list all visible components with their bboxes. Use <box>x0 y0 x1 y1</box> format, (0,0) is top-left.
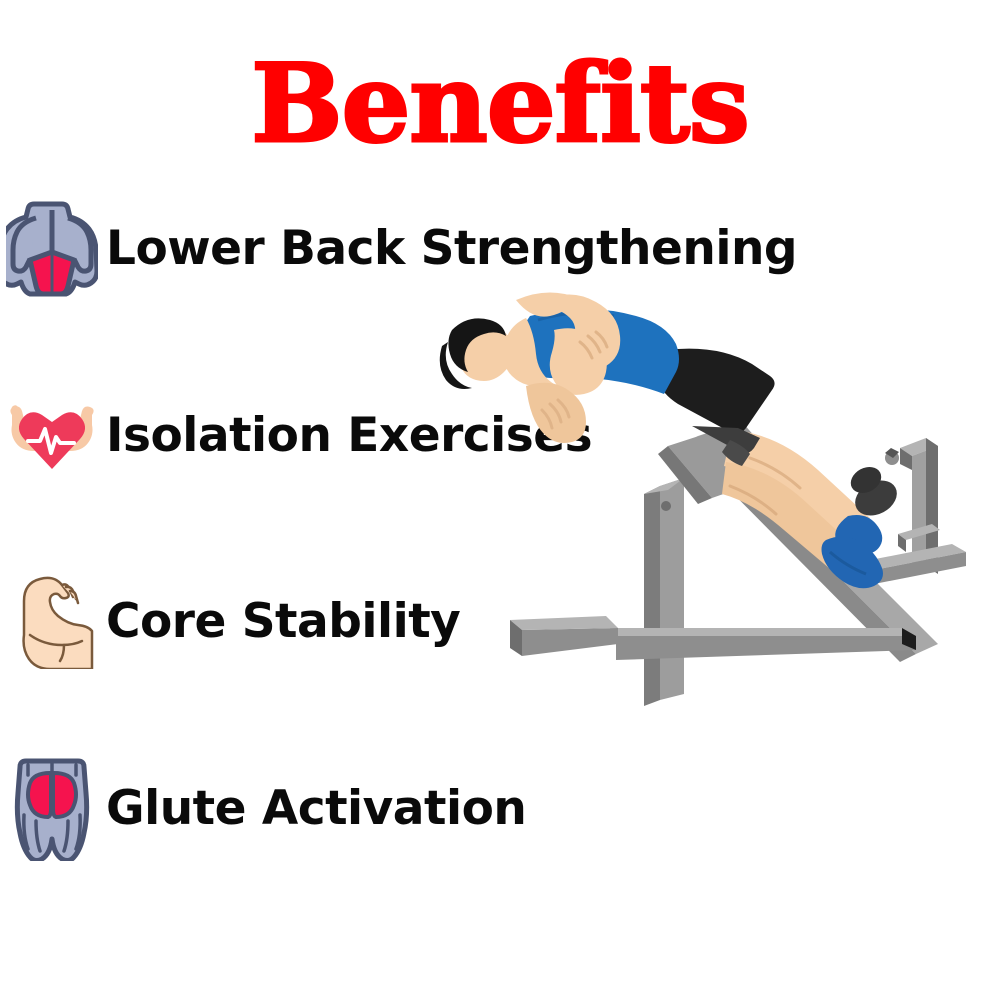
benefit-label-core: Core Stability <box>106 598 460 645</box>
benefit-label-glutes: Glute Activation <box>106 785 526 832</box>
glutes-icon <box>4 754 100 862</box>
flexed-bicep-icon <box>4 567 100 675</box>
bench-support-post <box>644 478 684 706</box>
glute-highlight <box>28 773 76 817</box>
benefit-item-lower-back: Lower Back Strengthening <box>4 192 784 304</box>
back-muscles-icon <box>4 194 100 302</box>
page-title: Benefits <box>0 48 1000 161</box>
head <box>440 318 513 389</box>
benefit-item-glutes: Glute Activation <box>4 752 784 864</box>
benefit-label-lower-back: Lower Back Strengthening <box>106 225 797 272</box>
infographic-canvas: Benefits Lower Back Strengthening <box>0 0 1000 1000</box>
hyperextension-bench-illustration <box>430 290 1000 720</box>
bench-base-rail <box>510 616 916 660</box>
heart-flex-icon <box>4 381 100 489</box>
bicep-shape <box>24 578 92 669</box>
